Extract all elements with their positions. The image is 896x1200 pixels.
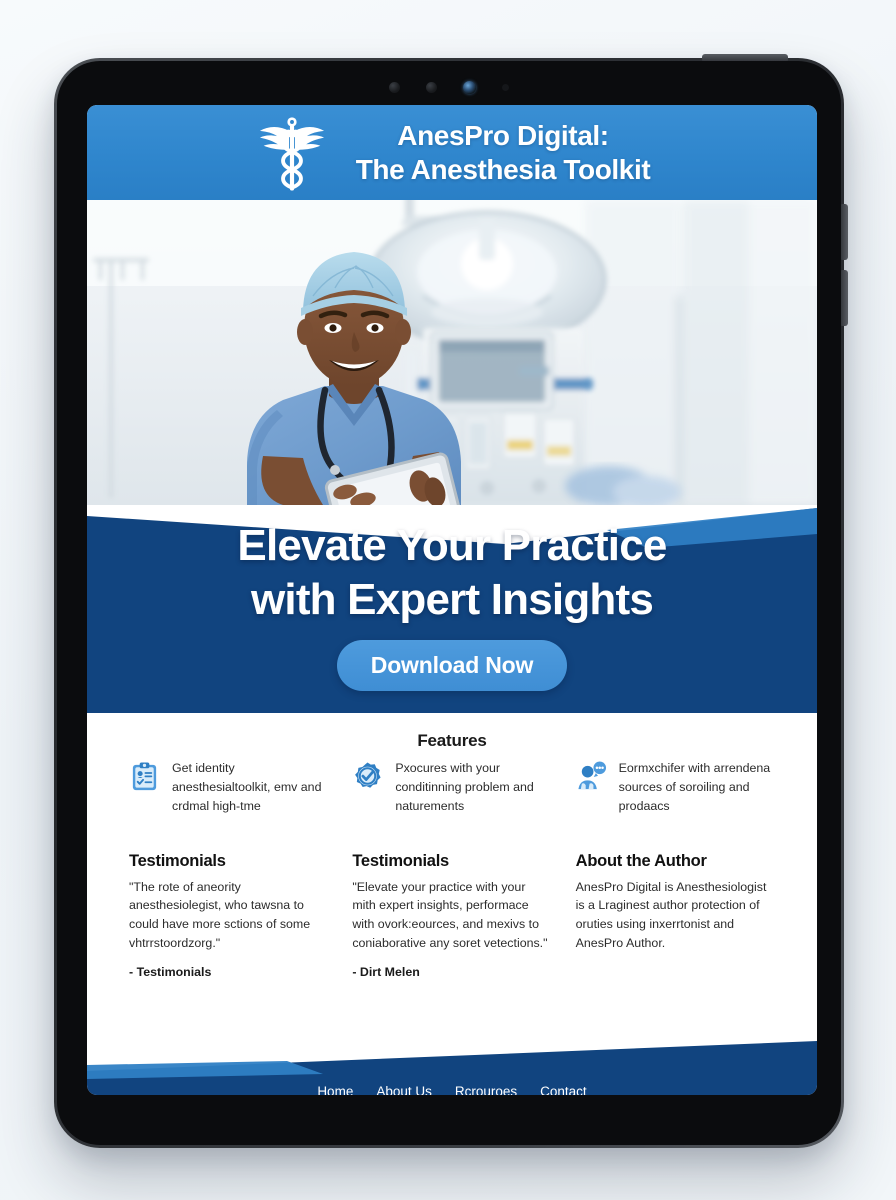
panels-row: Testimonials "The rote of aneority anest… xyxy=(129,852,775,979)
operating-room-photo xyxy=(87,200,817,505)
hero-title-line1: Elevate Your Practice xyxy=(237,521,666,570)
panel-author: - Testimonials xyxy=(129,965,328,979)
feature-text: Pxocures with your conditinning problem … xyxy=(395,759,551,816)
power-button[interactable] xyxy=(702,54,788,61)
microphone-icon xyxy=(502,84,509,91)
caduceus-icon xyxy=(254,113,330,195)
clipboard-checklist-icon xyxy=(129,761,160,792)
tablet-device: AnesPro Digital: The Anesthesia Toolkit xyxy=(54,58,844,1148)
panel-body: "The rote of aneority anesthesiolegist, … xyxy=(129,878,328,953)
proximity-sensor-icon xyxy=(389,82,400,93)
feature-item: Pxocures with your conditinning problem … xyxy=(352,759,551,816)
volume-up-button[interactable] xyxy=(841,204,848,260)
main-content: Features xyxy=(87,713,817,1041)
features-heading: Features xyxy=(129,731,775,751)
ambient-light-sensor-icon xyxy=(426,82,437,93)
site-title-line1: AnesPro Digital: xyxy=(356,119,651,152)
panel-title: Testimonials xyxy=(352,852,551,871)
testimonial-panel-1: Testimonials "The rote of aneority anest… xyxy=(129,852,328,979)
feature-item: Eormxchifer with arrendena sources of so… xyxy=(576,759,775,816)
hero-title: Elevate Your Practice with Expert Insigh… xyxy=(87,519,817,626)
hero-section: Elevate Your Practice with Expert Insigh… xyxy=(87,505,817,713)
panel-title: Testimonials xyxy=(129,852,328,871)
footer-link-home[interactable]: Home xyxy=(317,1084,353,1095)
panel-body: "Elevate your practice with your mith ex… xyxy=(352,878,551,953)
feature-item: Get identity anesthesialtoolkit, emv and… xyxy=(129,759,328,816)
panel-author: - Dirt Melen xyxy=(352,965,551,979)
site-footer: Home About Us Rcrouroes Contact © 2023 A… xyxy=(87,1041,817,1095)
site-header: AnesPro Digital: The Anesthesia Toolkit xyxy=(87,105,817,200)
hero-title-line2: with Expert Insights xyxy=(251,575,653,624)
hero-photo xyxy=(87,200,817,505)
footer-wave-divider xyxy=(87,1041,817,1083)
volume-down-button[interactable] xyxy=(841,270,848,326)
features-row: Get identity anesthesialtoolkit, emv and… xyxy=(129,759,775,816)
footer-link-about-us[interactable]: About Us xyxy=(376,1084,432,1095)
download-now-button[interactable]: Download Now xyxy=(337,640,567,691)
site-title: AnesPro Digital: The Anesthesia Toolkit xyxy=(356,119,651,185)
footer-inner: Home About Us Rcrouroes Contact © 2023 A… xyxy=(87,1084,817,1095)
footer-link-contact[interactable]: Contact xyxy=(540,1084,587,1095)
sensor-cluster xyxy=(57,79,841,95)
footer-link-resources[interactable]: Rcrouroes xyxy=(455,1084,517,1095)
feature-text: Eormxchifer with arrendena sources of so… xyxy=(619,759,775,816)
panel-body: AnesPro Digital is Anesthesiologist is a… xyxy=(576,878,775,953)
tablet-bezel: AnesPro Digital: The Anesthesia Toolkit xyxy=(57,61,841,1145)
screen: AnesPro Digital: The Anesthesia Toolkit xyxy=(87,105,817,1095)
people-chat-icon xyxy=(576,761,607,792)
site-title-line2: The Anesthesia Toolkit xyxy=(356,153,651,186)
panel-title: About the Author xyxy=(576,852,775,871)
about-the-author-panel: About the Author AnesPro Digital is Anes… xyxy=(576,852,775,953)
gear-check-icon xyxy=(352,761,383,792)
feature-text: Get identity anesthesialtoolkit, emv and… xyxy=(172,759,328,816)
front-camera-icon xyxy=(463,81,476,94)
testimonial-panel-2: Testimonials "Elevate your practice with… xyxy=(352,852,551,979)
footer-nav: Home About Us Rcrouroes Contact xyxy=(87,1084,817,1095)
hero-content: Elevate Your Practice with Expert Insigh… xyxy=(87,519,817,691)
